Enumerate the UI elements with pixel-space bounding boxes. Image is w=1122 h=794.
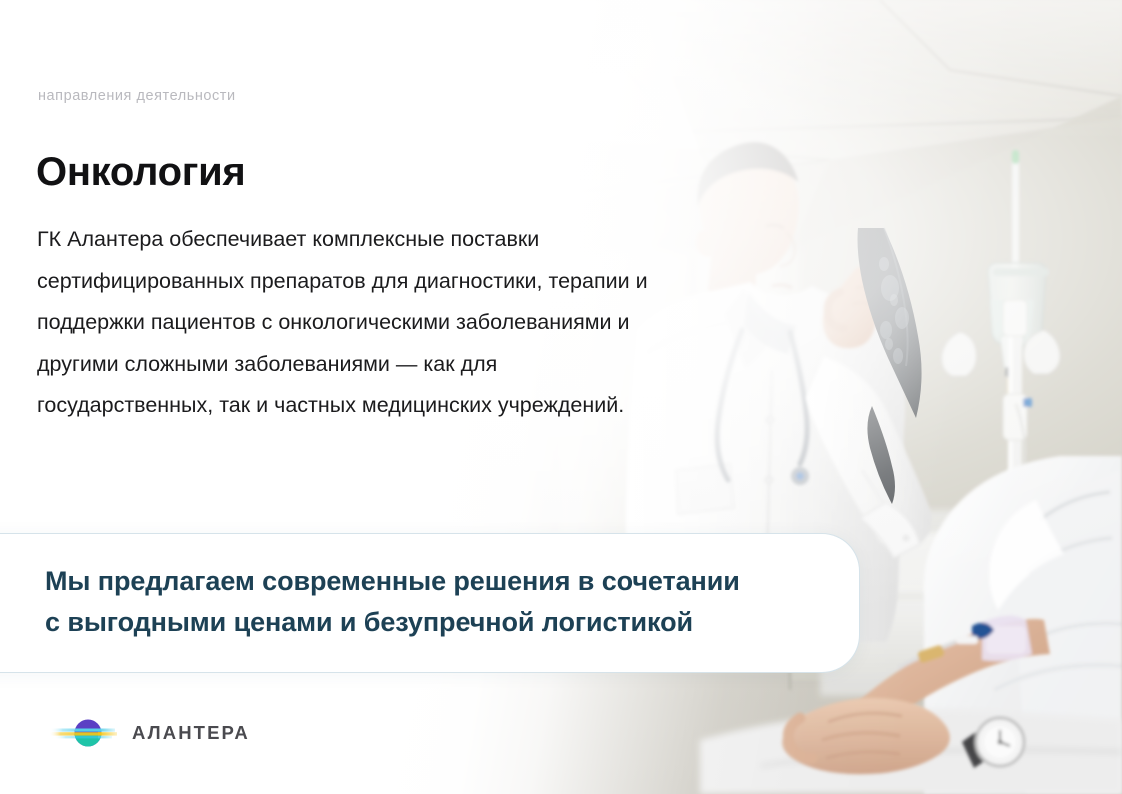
highlight-callout: Мы предлагаем современные решения в соче… xyxy=(0,533,860,673)
alantera-planet-icon xyxy=(48,711,120,755)
page-title: Онкология xyxy=(36,148,245,196)
body-paragraph: ГК Алантера обеспечивает комплексные пос… xyxy=(37,219,677,427)
slide-root: направления деятельности Онкология ГК Ал… xyxy=(0,0,1122,794)
callout-line-1: Мы предлагаем современные решения в соче… xyxy=(45,561,835,602)
callout-text: Мы предлагаем современные решения в соче… xyxy=(45,561,835,643)
callout-line-2: с выгодными ценами и безупречной логисти… xyxy=(45,602,835,643)
logo-wordmark: АЛАНТЕРА xyxy=(132,724,250,743)
body-copy: ГК Алантера обеспечивает комплексные пос… xyxy=(37,219,677,427)
eyebrow-label: направления деятельности xyxy=(38,88,236,104)
content-panel: направления деятельности Онкология ГК Ал… xyxy=(0,0,700,794)
brand-logo[interactable]: АЛАНТЕРА xyxy=(48,711,250,755)
